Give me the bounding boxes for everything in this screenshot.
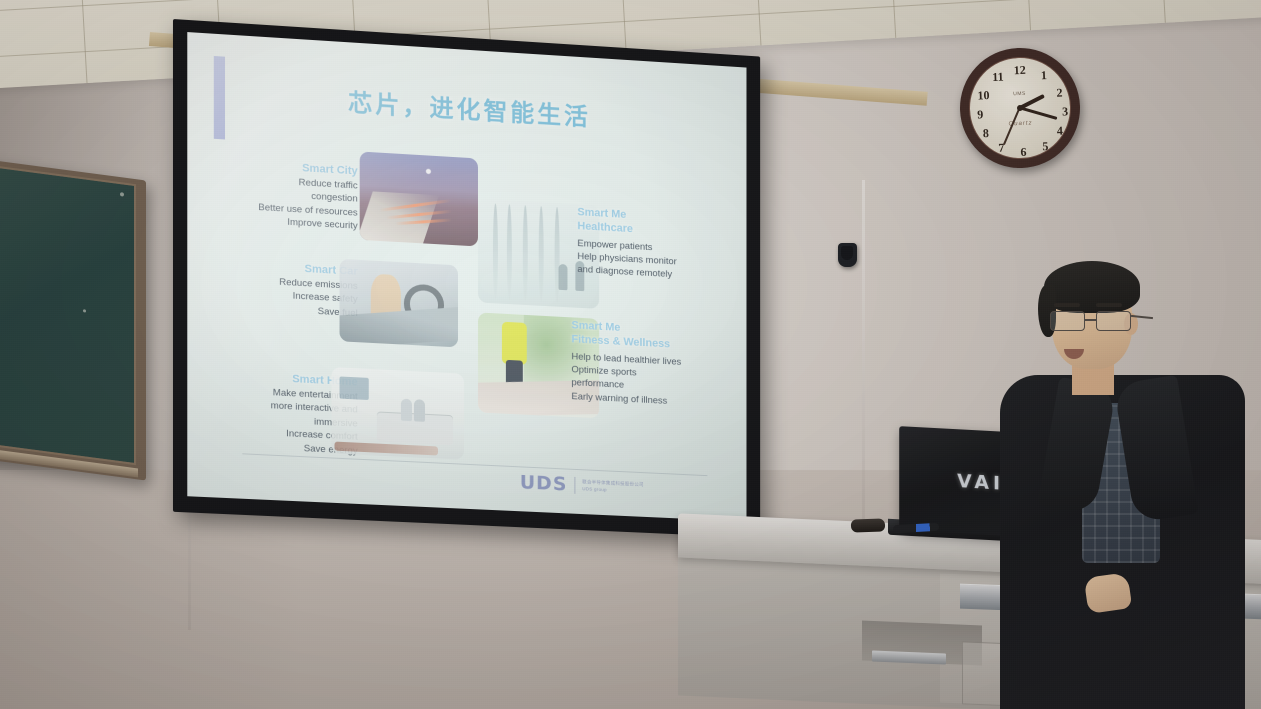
chalkboard-surface xyxy=(0,161,136,465)
presenter-brow-left xyxy=(1054,303,1080,307)
slide-logo: UDS 联合半导体集成科技股份公司 UDS group xyxy=(520,471,644,499)
remote-control[interactable] xyxy=(851,518,886,532)
chalkboard xyxy=(0,155,146,480)
photo-scene: 12 1 2 3 4 5 6 7 8 9 10 11 UMS Quartz 芯片… xyxy=(0,0,1261,709)
logo-divider xyxy=(574,476,575,493)
photo-living-room-couple xyxy=(331,367,464,460)
clock-number: 9 xyxy=(971,108,989,121)
photo-driver-in-car xyxy=(340,259,458,348)
clock-number: 7 xyxy=(992,141,1010,154)
logo-chinese-text: 联合半导体集成科技股份公司 UDS group xyxy=(582,479,644,494)
clock-number: 3 xyxy=(1056,105,1074,118)
eyeglasses-icon xyxy=(1048,311,1140,331)
presenter xyxy=(1000,255,1245,709)
presenter-brow-right xyxy=(1096,303,1122,307)
slide-footer-rule xyxy=(242,453,707,476)
block-smart-car: Smart Car Reduce emissions Increase safe… xyxy=(200,257,358,320)
block-smart-city: Smart City Reduce traffic congestion Bet… xyxy=(208,157,358,234)
block-smart-me-fitness: Smart Me Fitness & Wellness Help to lead… xyxy=(571,319,744,412)
presenter-hand xyxy=(1084,572,1133,614)
clock-number: 11 xyxy=(989,70,1007,83)
wall-seam xyxy=(862,180,865,540)
clock-face: 12 1 2 3 4 5 6 7 8 9 10 11 UMS Quartz xyxy=(967,55,1072,160)
clock-number: 1 xyxy=(1035,69,1053,82)
logo-wordmark: UDS xyxy=(520,471,568,495)
clock-number: 4 xyxy=(1051,124,1069,137)
projection-surface: 芯片，进化智能生活 Smart City Reduce traffic cong… xyxy=(187,32,746,521)
clock-minute-hand xyxy=(1020,107,1057,120)
clock-number: 5 xyxy=(1036,140,1054,153)
slide-title: 芯片，进化智能生活 xyxy=(187,73,746,142)
photo-highway-at-dusk xyxy=(360,151,478,246)
clock-number: 6 xyxy=(1014,146,1032,159)
projection-screen: 芯片，进化智能生活 Smart City Reduce traffic cong… xyxy=(173,19,760,538)
block-smart-me-healthcare: Smart Me Healthcare Empower patients Hel… xyxy=(577,206,742,286)
presentation-slide: 芯片，进化智能生活 Smart City Reduce traffic cong… xyxy=(187,32,746,521)
wall-speaker-icon xyxy=(838,243,857,267)
clock-number: 8 xyxy=(977,127,995,140)
clock-number: 12 xyxy=(1010,64,1028,77)
